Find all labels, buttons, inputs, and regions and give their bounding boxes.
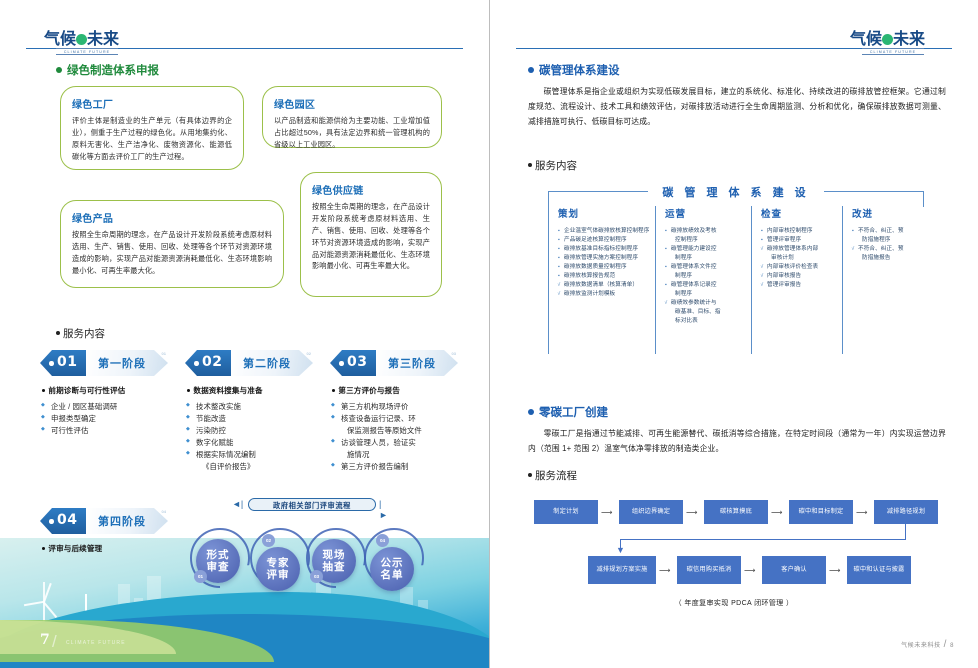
page-right: 气候未来 CLIMATE FUTURE 碳管理体系建设 碳管理体系是指企业或组织… — [489, 0, 978, 668]
cm-rule — [824, 191, 924, 192]
logo-leaf-icon — [882, 34, 893, 45]
phase-card-01: 01 第一阶段 01 前期诊断与可行性评估 企业 / 园区基础调研 申报类型确定… — [40, 350, 176, 437]
list-item: 碳排放数据质量控制程序 — [558, 263, 652, 272]
phase-lead: 数据资料搜集与准备 — [185, 385, 321, 396]
phase-label: 第四阶段 — [98, 513, 146, 529]
list-item: 施情况 — [330, 449, 454, 461]
heading-zero-carbon-factory: 零碳工厂创建 — [528, 404, 608, 420]
phase-lead: 评审与后续管理 — [40, 543, 176, 554]
list-item: 产品碳足迹核算控制程序 — [558, 236, 652, 245]
phase-tag: 03 第三阶段 03 — [330, 350, 458, 376]
phase-number: 03 — [347, 354, 367, 370]
phase-label: 第二阶段 — [243, 355, 291, 371]
flow-step-04: 公示名单 — [370, 547, 414, 591]
phase-number: 02 — [202, 354, 222, 370]
arrow-icon: ⟶ — [744, 567, 755, 575]
list-item: 防措施程序 — [852, 236, 926, 245]
list-item: 制程序 — [665, 254, 749, 263]
phase-label: 第三阶段 — [388, 355, 436, 371]
phase-tag: 04 第四阶段 04 — [40, 508, 168, 534]
paragraph-carbon-management: 碳管理体系是指企业或组织为实现低碳发展目标，建立的系统化、标准化、持续改进的碳排… — [528, 84, 946, 130]
step-number-badge: 02 — [262, 534, 275, 547]
flow-box-4: 碳中和目标制定 — [789, 500, 853, 524]
list-item: 内部审核报告 — [761, 272, 843, 281]
gov-review-banner: ◄| 政府相关部门评审流程 |► — [248, 498, 376, 511]
card-title: 绿色产品 — [72, 210, 272, 225]
flow-connector — [905, 524, 906, 540]
list-item: 技术整改实施 — [185, 401, 321, 413]
page-number-slash: / — [52, 632, 57, 652]
subheading-service-flow: 服务流程 — [528, 468, 577, 483]
card-green-product: 绿色产品 按照全生命周期的理念，在产品设计开发阶段系统考虑原材料选用、生产、销售… — [60, 200, 284, 288]
logo-zh-part1: 气候 — [850, 29, 882, 48]
card-body: 评价主体是制造业的生产单元（有具体边界的企业），侧重于生产过程的绿色化。从用地集… — [72, 115, 232, 163]
cm-column-head: 检查 — [761, 206, 843, 220]
list-item: 《自评价报告》 — [185, 461, 321, 473]
list-item: 第三方评价报告编制 — [330, 461, 454, 473]
phase-corner-number: 03 — [452, 351, 456, 356]
gov-banner-pill: 政府相关部门评审流程 — [248, 498, 376, 511]
document-spread: 气候未来 CLIMATE FUTURE 绿色制造体系申报 绿色工厂 评价主体是制… — [0, 0, 978, 668]
card-body: 按照全生命周期的理念，在产品设计开发阶段系统考虑原材料选用、生产、销售、使用、回… — [312, 201, 430, 272]
list-item: 可行性评估 — [40, 425, 176, 437]
bullet-icon — [56, 67, 62, 73]
flow-connector — [620, 539, 906, 540]
step-line1: 现场 — [323, 549, 346, 561]
cm-divider — [548, 206, 549, 354]
list-item: 保监测报告等原始文件 — [330, 425, 454, 437]
list-item: 碳排放数据清单（核算清单） — [558, 281, 652, 290]
list-item: 第三方机构现场评价 — [330, 401, 454, 413]
list-item: 企业温室气体碳排放核算控制程序 — [558, 227, 652, 236]
cm-column-list: 企业温室气体碳排放核算控制程序 产品碳足迹核算控制程序 碳排放基准目标指标控制程… — [558, 227, 652, 299]
logo-text: 气候未来 — [850, 30, 944, 47]
list-item: 碳管理体系记录控 — [665, 281, 749, 290]
footer-slash: / — [944, 639, 947, 650]
lead-dot-icon — [332, 389, 335, 392]
bullet-icon — [528, 473, 532, 477]
list-item: 碳排放管理实施方案控制程序 — [558, 254, 652, 263]
phase-list: 前期诊断与可行性评估 企业 / 园区基础调研 申报类型确定 可行性评估 — [40, 385, 176, 437]
list-item: 碳排放绩效及考核 — [665, 227, 749, 236]
phase-number: 01 — [57, 354, 77, 370]
step-number-badge: 03 — [310, 570, 323, 583]
phase-card-04: 04 第四阶段 04 评审与后续管理 — [40, 508, 176, 559]
list-item: 制程序 — [665, 290, 749, 299]
list-item: 核查设备运行记录、环 — [330, 413, 454, 425]
arrow-right-icon: |► — [379, 499, 388, 521]
subheading-text: 服务内容 — [63, 328, 105, 340]
list-item: 污染防控 — [185, 425, 321, 437]
list-item: 访谈管理人员，验证实 — [330, 437, 454, 449]
footer-brand: 气候未来科技 — [901, 643, 941, 649]
list-item: 数字化赋能 — [185, 437, 321, 449]
card-green-factory: 绿色工厂 评价主体是制造业的生产单元（有具体边界的企业），侧重于生产过程的绿色化… — [60, 86, 244, 170]
page-number-left: 7 — [40, 632, 50, 648]
logo-subtitle: CLIMATE FUTURE — [56, 48, 118, 55]
list-item: 碳排放管理体系内部 — [761, 245, 843, 254]
footer-caption-left: CLIMATE FUTURE — [66, 640, 126, 646]
cm-column-planning: 策划 企业温室气体碳排放核算控制程序 产品碳足迹核算控制程序 碳排放基准目标指标… — [558, 206, 652, 299]
cm-divider — [655, 206, 656, 354]
phase-corner-number: 04 — [162, 509, 166, 514]
lead-dot-icon — [42, 389, 45, 392]
cm-column-head: 改进 — [852, 206, 926, 220]
arrow-icon: ⟶ — [829, 567, 840, 575]
phase-card-03: 03 第三阶段 03 第三方评价与报告 第三方机构现场评价 核查设备运行记录、环… — [330, 350, 458, 473]
subheading-service-content-left: 服务内容 — [56, 326, 105, 341]
list-item: 管理评审报告 — [761, 281, 843, 290]
list-item: 碳管理能力建设控 — [665, 245, 749, 254]
flow-box-6: 减排规划方案实施 — [588, 556, 656, 584]
step-line1: 公示 — [381, 557, 404, 569]
list-item: 控制程序 — [665, 236, 749, 245]
bullet-icon — [528, 163, 532, 167]
heading-text: 绿色制造体系申报 — [67, 65, 159, 77]
subheading-text: 服务流程 — [535, 470, 577, 482]
lead-dot-icon — [42, 547, 45, 550]
arrow-icon: ⟶ — [686, 509, 697, 517]
cm-bracket — [923, 191, 924, 207]
list-item: 碳排放基准目标指标控制程序 — [558, 245, 652, 254]
logo-subtitle: CLIMATE FUTURE — [862, 48, 924, 55]
page-footer-right: 气候未来科技/8 — [901, 639, 954, 650]
logo-zh-part2: 未来 — [87, 29, 119, 48]
list-item: 碳绩效参数统计与 — [665, 299, 749, 308]
card-green-supply-chain: 绿色供应链 按照全生命周期的理念，在产品设计开发阶段系统考虑原材料选用、生产、销… — [300, 172, 442, 297]
cm-column-check: 检查 内部审核控制程序 管理评审程序 碳排放管理体系内部 审核计划 内部审核评价… — [761, 206, 843, 290]
heading-green-manufacturing: 绿色制造体系申报 — [56, 62, 159, 78]
card-title: 绿色工厂 — [72, 96, 232, 111]
cm-column-list: 不符合、纠正、预 防措施程序 不符合、纠正、预 防措施报告 — [852, 227, 926, 263]
phase-label-plate: 第四阶段 — [86, 508, 168, 534]
step-number-badge: 01 — [194, 570, 207, 583]
turbine-blade — [43, 601, 57, 617]
flow-box-1: 制定计划 — [534, 500, 598, 524]
phase-label-plate: 第二阶段 — [231, 350, 313, 376]
list-item: 不符合、纠正、预 — [852, 245, 926, 254]
flow-step-02: 专家评审 — [256, 547, 300, 591]
cm-column-improve: 改进 不符合、纠正、预 防措施程序 不符合、纠正、预 防措施报告 — [852, 206, 926, 263]
cm-column-head: 策划 — [558, 206, 652, 220]
cm-bracket — [548, 191, 549, 207]
cm-column-list: 碳排放绩效及考核 控制程序 碳管理能力建设控 制程序 碳管理体系文件控 制程序 … — [665, 227, 749, 327]
step-line2: 名单 — [381, 569, 404, 581]
step-line1: 专家 — [267, 557, 290, 569]
phase-tag: 01 第一阶段 01 — [40, 350, 168, 376]
cm-divider — [751, 206, 752, 354]
page-left: 气候未来 CLIMATE FUTURE 绿色制造体系申报 绿色工厂 评价主体是制… — [0, 0, 489, 668]
cm-column-operation: 运营 碳排放绩效及考核 控制程序 碳管理能力建设控 制程序 碳管理体系文件控 制… — [665, 206, 749, 327]
phase-lead: 前期诊断与可行性评估 — [40, 385, 176, 396]
phase-tag: 02 第二阶段 02 — [185, 350, 313, 376]
cm-column-list: 内部审核控制程序 管理评审程序 碳排放管理体系内部 审核计划 内部审核评价检查表… — [761, 227, 843, 290]
header-right: 气候未来 CLIMATE FUTURE — [490, 30, 978, 52]
list-item: 企业 / 园区基础调研 — [40, 401, 176, 413]
subheading-text: 服务内容 — [535, 160, 577, 172]
list-item: 标对比表 — [665, 317, 749, 326]
bullet-icon — [56, 331, 60, 335]
page-number-right: 8 — [950, 643, 954, 649]
list-item: 制程序 — [665, 272, 749, 281]
paragraph-zero-carbon: 零碳工厂是指通过节能减排、可再生能源替代、碳抵消等综合措施，在特定时间段（通常为… — [528, 426, 946, 456]
flow-note: （ 年度复审实现 PDCA 闭环管理 ） — [490, 598, 978, 608]
card-green-park: 绿色园区 以产品制造和能源供给为主要功能、工业增加值占比超过50%，具有法定边界… — [262, 86, 442, 148]
step-line2: 审查 — [207, 561, 230, 573]
heading-carbon-management: 碳管理体系建设 — [528, 62, 620, 78]
arrow-icon: ⟶ — [601, 509, 612, 517]
arrow-left-icon: ◄| — [232, 499, 243, 510]
flow-box-5: 减排路径规划 — [874, 500, 938, 524]
flow-box-9: 碳中和认证与披露 — [847, 556, 911, 584]
list-item: 碳排放核算报告规范 — [558, 272, 652, 281]
logo-right: 气候未来 CLIMATE FUTURE — [850, 30, 944, 60]
list-item: 防措施报告 — [852, 254, 926, 263]
card-title: 绿色供应链 — [312, 182, 430, 197]
phase-corner-number: 02 — [307, 351, 311, 356]
bullet-icon — [528, 67, 534, 73]
logo-zh-part1: 气候 — [44, 29, 76, 48]
arrow-icon: ⟶ — [771, 509, 782, 517]
list-item: 内部审核控制程序 — [761, 227, 843, 236]
list-item: 根据实际情况编制 — [185, 449, 321, 461]
step-number-badge: 04 — [376, 534, 389, 547]
card-body: 按照全生命周期的理念，在产品设计开发阶段系统考虑原材料选用、生产、销售、使用、回… — [72, 229, 272, 277]
phase-list: 评审与后续管理 — [40, 543, 176, 554]
list-item: 节能改造 — [185, 413, 321, 425]
subheading-service-content-right: 服务内容 — [528, 158, 577, 173]
phase-corner-number: 01 — [162, 351, 166, 356]
carbon-management-table: 碳 管 理 体 系 建 设 策划 企业温室气体碳排放核算控制程序 产品碳足迹核算… — [538, 184, 934, 356]
arrow-down-icon: ▼ — [616, 546, 625, 555]
cm-column-head: 运营 — [665, 206, 749, 220]
arrow-icon: ⟶ — [659, 567, 670, 575]
heading-text: 零碳工厂创建 — [539, 407, 608, 419]
list-item: 不符合、纠正、预 — [852, 227, 926, 236]
step-line1: 形式 — [207, 549, 230, 561]
flow-box-2: 组织边界确定 — [619, 500, 683, 524]
step-line2: 评审 — [267, 569, 290, 581]
step-line2: 抽查 — [323, 561, 346, 573]
logo-text: 气候未来 — [44, 30, 138, 47]
phase-label-plate: 第一阶段 — [86, 350, 168, 376]
list-item: 碳排放监测计划模板 — [558, 290, 652, 299]
list-item: 碳管理体系文件控 — [665, 263, 749, 272]
lead-dot-icon — [187, 389, 190, 392]
cm-rule — [548, 191, 648, 192]
phase-label: 第一阶段 — [98, 355, 146, 371]
phase-number: 04 — [57, 512, 77, 528]
list-item: 申报类型确定 — [40, 413, 176, 425]
phase-card-02: 02 第二阶段 02 数据资料搜集与准备 技术整改实施 节能改造 污染防控 数字… — [185, 350, 321, 473]
card-body: 以产品制造和能源供给为主要功能、工业增加值占比超过50%，具有法定边界和统一管理… — [274, 115, 430, 151]
phase-list: 数据资料搜集与准备 技术整改实施 节能改造 污染防控 数字化赋能 根据实际情况编… — [185, 385, 321, 473]
phase-lead: 第三方评价与报告 — [330, 385, 454, 396]
bullet-icon — [528, 409, 534, 415]
phase-label-plate: 第三阶段 — [376, 350, 458, 376]
list-item: 碳基准、目标、指 — [665, 308, 749, 317]
arrow-icon: ⟶ — [856, 509, 867, 517]
heading-text: 碳管理体系建设 — [539, 65, 620, 77]
header-left: 气候未来 CLIMATE FUTURE — [0, 30, 489, 52]
list-item: 内部审核评价检查表 — [761, 263, 843, 272]
gov-banner-text: 政府相关部门评审流程 — [249, 499, 375, 510]
flow-box-3: 碳核算摸底 — [704, 500, 768, 524]
logo-left: 气候未来 CLIMATE FUTURE — [44, 30, 138, 60]
list-item: 审核计划 — [761, 254, 843, 263]
flow-box-7: 碳信用购买抵消 — [677, 556, 741, 584]
list-item: 管理评审程序 — [761, 236, 843, 245]
flow-box-8: 客户确认 — [762, 556, 826, 584]
logo-leaf-icon — [76, 34, 87, 45]
card-title: 绿色园区 — [274, 96, 430, 111]
logo-zh-part2: 未来 — [893, 29, 925, 48]
phase-list: 第三方评价与报告 第三方机构现场评价 核查设备运行记录、环 保监测报告等原始文件… — [330, 385, 454, 473]
